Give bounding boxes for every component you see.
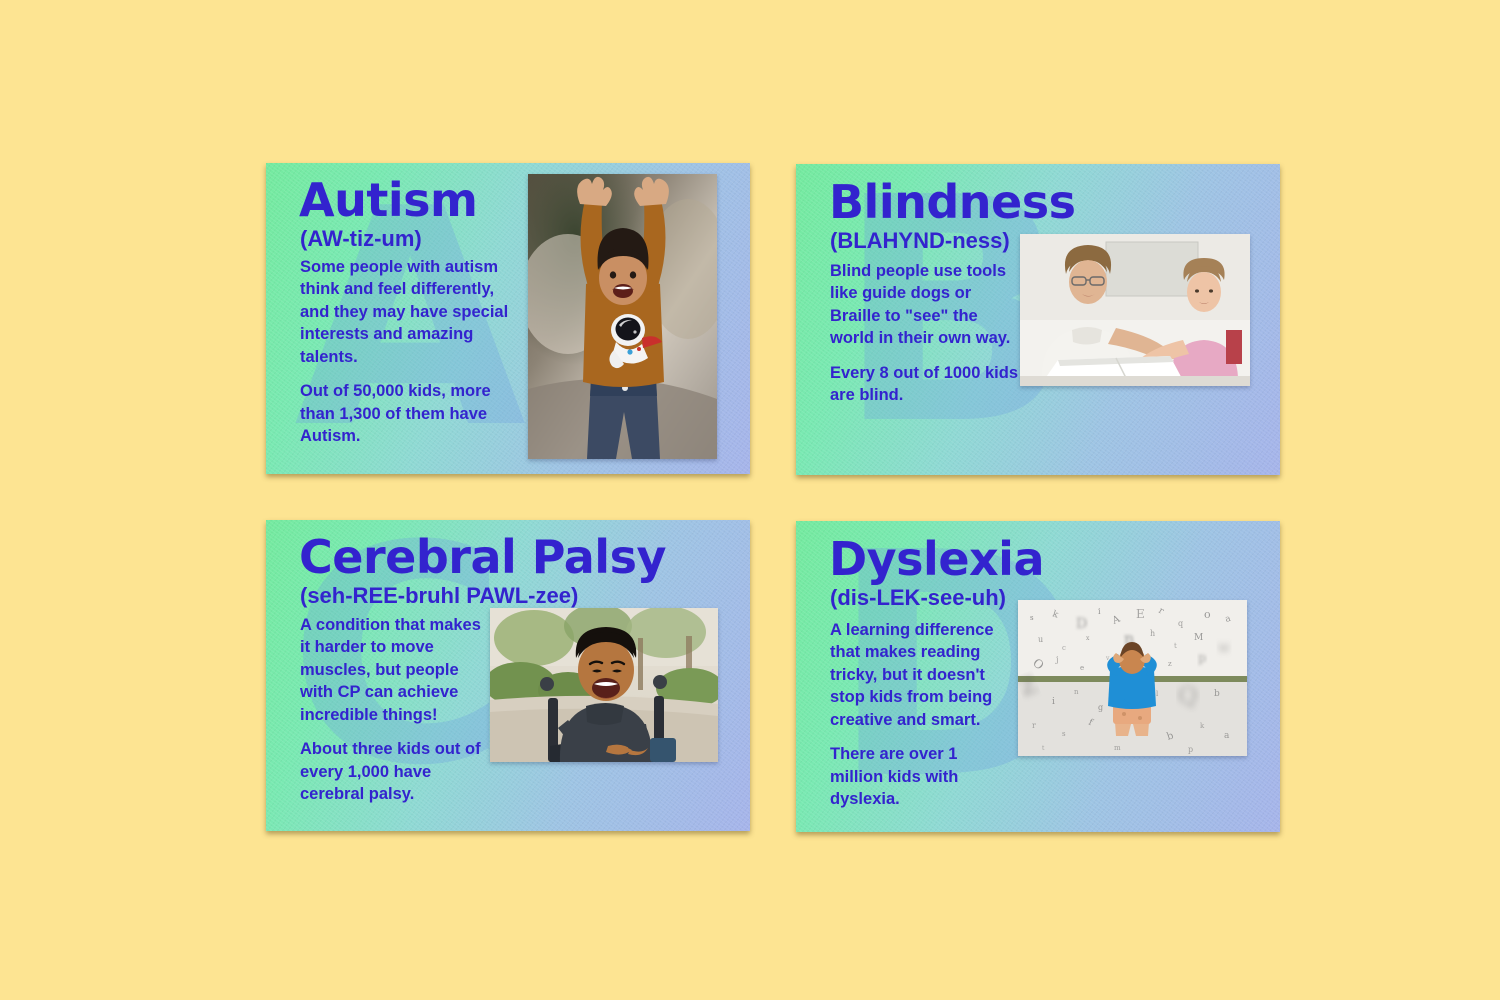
card-paragraph: About three kids out of every 1,000 have…: [300, 738, 490, 805]
card-title: Dyslexia: [829, 536, 1044, 582]
card-paragraph: Out of 50,000 kids, more than 1,300 of t…: [300, 380, 522, 447]
svg-text:D: D: [1076, 616, 1087, 632]
svg-text:q: q: [1178, 619, 1183, 628]
svg-text:w: w: [1218, 640, 1230, 656]
card-phonetic: (dis-LEK-see-uh): [830, 585, 1006, 611]
svg-text:r: r: [1032, 721, 1036, 730]
svg-text:i: i: [1098, 607, 1101, 616]
card-paragraph: A condition that makes it harder to move…: [300, 614, 490, 726]
card-body-text: Some people with autism think and feel d…: [300, 256, 522, 448]
card-title: Blindness: [829, 179, 1075, 225]
card-phonetic: (seh-REE-bruhl PAWL-zee): [300, 583, 578, 609]
info-card-cerebral-palsy[interactable]: C Cerebral Palsy (seh-REE-bruhl PAWL-zee…: [266, 520, 750, 831]
svg-text:m: m: [1114, 744, 1121, 752]
svg-text:s: s: [1062, 730, 1066, 738]
svg-text:j: j: [1055, 655, 1058, 664]
svg-text:c: c: [1062, 644, 1066, 652]
svg-text:t: t: [1174, 642, 1177, 650]
info-card-dyslexia[interactable]: D Dyslexia (dis-LEK-see-uh) A learning d…: [796, 521, 1280, 832]
card-body-text: A condition that makes it harder to move…: [300, 614, 490, 806]
card-phonetic: (AW-tiz-um): [300, 226, 422, 252]
card-photo-blindness: [1020, 234, 1250, 386]
card-photo-dyslexia: s k D i A E r q o a u c x n h: [1018, 600, 1247, 756]
card-paragraph: Blind people use tools like guide dogs o…: [830, 260, 1024, 350]
svg-text:E: E: [1136, 607, 1145, 621]
poster-canvas: A Autism (AW-tiz-um) Some people with au…: [0, 0, 1500, 1000]
svg-text:u: u: [1038, 635, 1043, 644]
svg-text:e: e: [1080, 664, 1084, 672]
card-body-text: A learning difference that makes reading…: [830, 619, 1010, 811]
svg-text:h: h: [1150, 629, 1155, 638]
svg-text:p: p: [1188, 745, 1193, 754]
svg-text:p: p: [1198, 651, 1206, 666]
svg-text:b: b: [1214, 689, 1220, 699]
svg-text:s: s: [1030, 614, 1034, 622]
card-paragraph: There are over 1 million kids with dysle…: [830, 743, 1010, 810]
card-photo-autism: [528, 174, 717, 459]
card-paragraph: Every 8 out of 1000 kids are blind.: [830, 362, 1024, 407]
svg-text:n: n: [1074, 688, 1079, 696]
svg-text:M: M: [1194, 633, 1203, 643]
info-card-blindness[interactable]: B Blindness (BLAHYND-ness) Blind people …: [796, 164, 1280, 475]
card-phonetic: (BLAHYND-ness): [830, 228, 1010, 254]
card-title: Autism: [299, 177, 477, 223]
card-body-text: Blind people use tools like guide dogs o…: [830, 260, 1024, 407]
card-paragraph: A learning difference that makes reading…: [830, 619, 1010, 731]
card-photo-cerebral-palsy: [490, 608, 718, 762]
info-card-autism[interactable]: A Autism (AW-tiz-um) Some people with au…: [266, 163, 750, 474]
svg-text:g: g: [1098, 703, 1103, 712]
svg-text:Q: Q: [1178, 682, 1198, 710]
card-title: Cerebral Palsy: [299, 534, 666, 580]
svg-text:i: i: [1052, 697, 1055, 707]
svg-text:z: z: [1168, 660, 1172, 668]
svg-text:o: o: [1204, 608, 1211, 621]
card-paragraph: Some people with autism think and feel d…: [300, 256, 522, 368]
svg-text:a: a: [1224, 731, 1230, 741]
